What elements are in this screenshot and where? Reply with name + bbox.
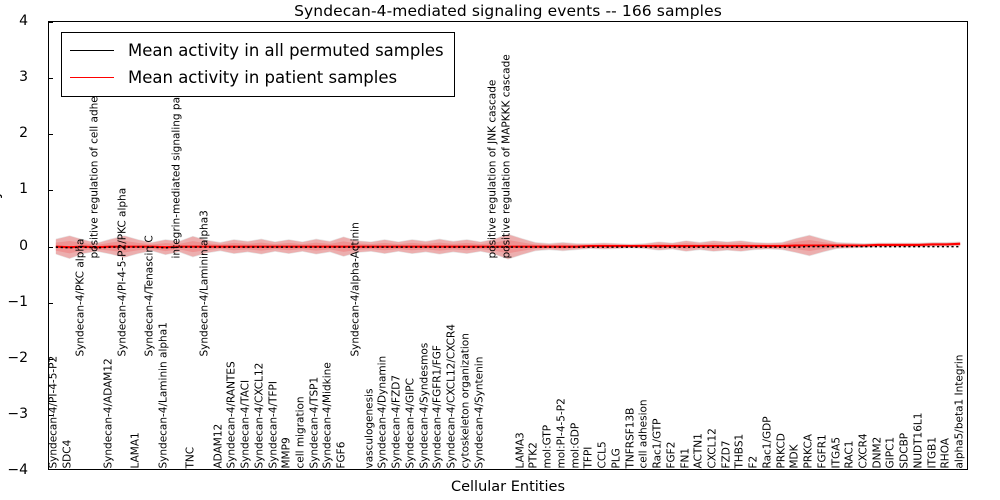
x-tick-label: Syndecan-4/ADAM12 — [103, 358, 114, 468]
y-tick-label: 0 — [19, 238, 28, 254]
figure-canvas: Syndecan-4-mediated signaling events -- … — [0, 0, 1000, 500]
x-tick-label: Syndecan-4/TFPI — [268, 381, 279, 468]
legend-label-permuted: Mean activity in all permuted samples — [128, 41, 444, 60]
x-tick-label: MMP9 — [282, 437, 293, 468]
x-tick-label: ADAM12 — [213, 423, 224, 468]
x-tick-label: positive regulation of JNK cascade — [488, 79, 499, 258]
x-tick-label: Syndecan-4/FGFR1/FGF — [433, 345, 444, 468]
x-tick-label: cell migration — [296, 396, 307, 468]
x-tick-label: NUDT16L1 — [913, 412, 924, 468]
y-axis-label: Inferred Activity — [0, 190, 3, 310]
x-tick-label: MDK — [790, 444, 801, 468]
x-tick-label: DNM2 — [872, 436, 883, 468]
x-tick-label: mol:GDP — [570, 422, 581, 468]
x-tick-label: Syndecan-4/Tenascin C — [144, 235, 155, 356]
x-tick-label: Syndecan-4/RANTES — [227, 361, 238, 468]
x-tick-label: Syndecan-4/CXCL12/CXCR4 — [447, 324, 458, 468]
x-tick-label: mol:PI-4-5-P2 — [556, 398, 567, 468]
x-tick-label: FZD7 — [721, 440, 732, 468]
y-tick-label: 3 — [19, 69, 28, 85]
y-tick-label: −3 — [7, 406, 28, 422]
x-tick-label: Syndecan-4/Midkine — [323, 362, 334, 468]
x-tick-label: Rac1/GDP — [762, 416, 773, 468]
x-tick-label: Syndecan-4/PKC alpha — [76, 238, 87, 356]
x-tick-label: ITGA5 — [831, 436, 842, 468]
x-tick-label: SDCBP — [900, 432, 911, 468]
x-tick-label: cell adhesion — [639, 399, 650, 468]
y-tick-label: 4 — [19, 13, 28, 29]
chart-title: Syndecan-4-mediated signaling events -- … — [48, 2, 968, 20]
x-tick-label: FGFR1 — [817, 434, 828, 468]
x-tick-label: F2 — [749, 455, 760, 468]
y-tick-label: −4 — [7, 462, 28, 478]
legend-swatch-permuted — [70, 50, 114, 51]
x-tick-label: LAMA1 — [131, 432, 142, 468]
x-tick-label: RHOA — [941, 438, 952, 468]
x-tick-label: CCL5 — [598, 441, 609, 468]
x-tick-label: ACTN1 — [694, 433, 705, 468]
x-tick-label: positive regulation of cell adhesion — [90, 74, 101, 258]
x-tick-label: ITGB1 — [927, 436, 938, 468]
x-tick-label: Syndecan-4/Laminin alpha3 — [199, 210, 210, 356]
x-tick-label: GIPC1 — [886, 436, 897, 468]
x-tick-label: PRKCA — [804, 434, 815, 468]
x-tick-label: Rac1/GTP — [653, 418, 664, 468]
x-tick-label: vasculogenesis — [364, 388, 375, 468]
x-tick-label: PTK2 — [529, 442, 540, 468]
legend-swatch-patient — [70, 77, 114, 78]
y-tick-label: −1 — [7, 294, 28, 310]
x-tick-label: FGF6 — [337, 441, 348, 468]
x-tick-label: LAMA3 — [515, 432, 526, 468]
x-tick-label: FGF2 — [666, 441, 677, 468]
x-tick-label: SDC4 — [62, 439, 73, 468]
x-tick-label: TFPI — [584, 446, 595, 468]
x-tick-label: alpha5/beta1 Integrin — [955, 354, 966, 468]
x-tick-label: RAC1 — [845, 440, 856, 468]
x-tick-label: Syndecan-4/GIPC — [405, 378, 416, 468]
x-tick-label: cytoskeleton organization — [460, 333, 471, 468]
x-tick-label: PLG — [611, 448, 622, 468]
x-axis-label: Cellular Entities — [48, 479, 968, 495]
x-tick-label: Syndecan-4/FZD7 — [392, 374, 403, 468]
x-tick-label: Syndecan-4/Laminin alpha1 — [158, 322, 169, 468]
x-tick-label: Syndecan-4/CXCL12 — [254, 362, 265, 468]
x-tick-label: Syndecan-4/TSP1 — [309, 376, 320, 468]
y-tick-label: 1 — [19, 181, 28, 197]
x-tick-label: Syndecan-4/alpha-Actinin — [350, 222, 361, 356]
x-tick-label: PRKCD — [776, 433, 787, 468]
x-tick-label: Syndecan-4/PI-4-5-P2/PKC alpha — [117, 187, 128, 356]
x-tick-label: FN1 — [680, 447, 691, 468]
x-tick-label: mol:GTP — [543, 424, 554, 468]
x-tick-label: Syndecan-4/TACI — [241, 379, 252, 468]
x-tick-label: THBS1 — [735, 433, 746, 468]
x-tick-label: TNC — [186, 446, 197, 468]
legend-item-patient: Mean activity in patient samples — [70, 64, 444, 91]
x-tick-label: CXCL12 — [707, 428, 718, 468]
x-tick-label: CXCR4 — [859, 433, 870, 468]
legend-item-permuted: Mean activity in all permuted samples — [70, 37, 444, 64]
legend: Mean activity in all permuted samples Me… — [61, 32, 455, 97]
x-tick-label: Syndecan-4/PI-4-5-P2 — [48, 355, 59, 468]
x-tick-label: Syndecan-4/Syntenin — [474, 356, 485, 468]
y-tick-label: −2 — [7, 350, 28, 366]
x-tick-label: TNFRSF13B — [625, 407, 636, 468]
x-tick-label: Syndecan-4/Dynamin — [378, 355, 389, 468]
x-tick-label: positive regulation of MAPKKK cascade — [502, 54, 513, 258]
legend-label-patient: Mean activity in patient samples — [128, 68, 397, 87]
x-tick-label: Syndecan-4/Syndesmos — [419, 342, 430, 468]
y-tick-label: 2 — [19, 125, 28, 141]
